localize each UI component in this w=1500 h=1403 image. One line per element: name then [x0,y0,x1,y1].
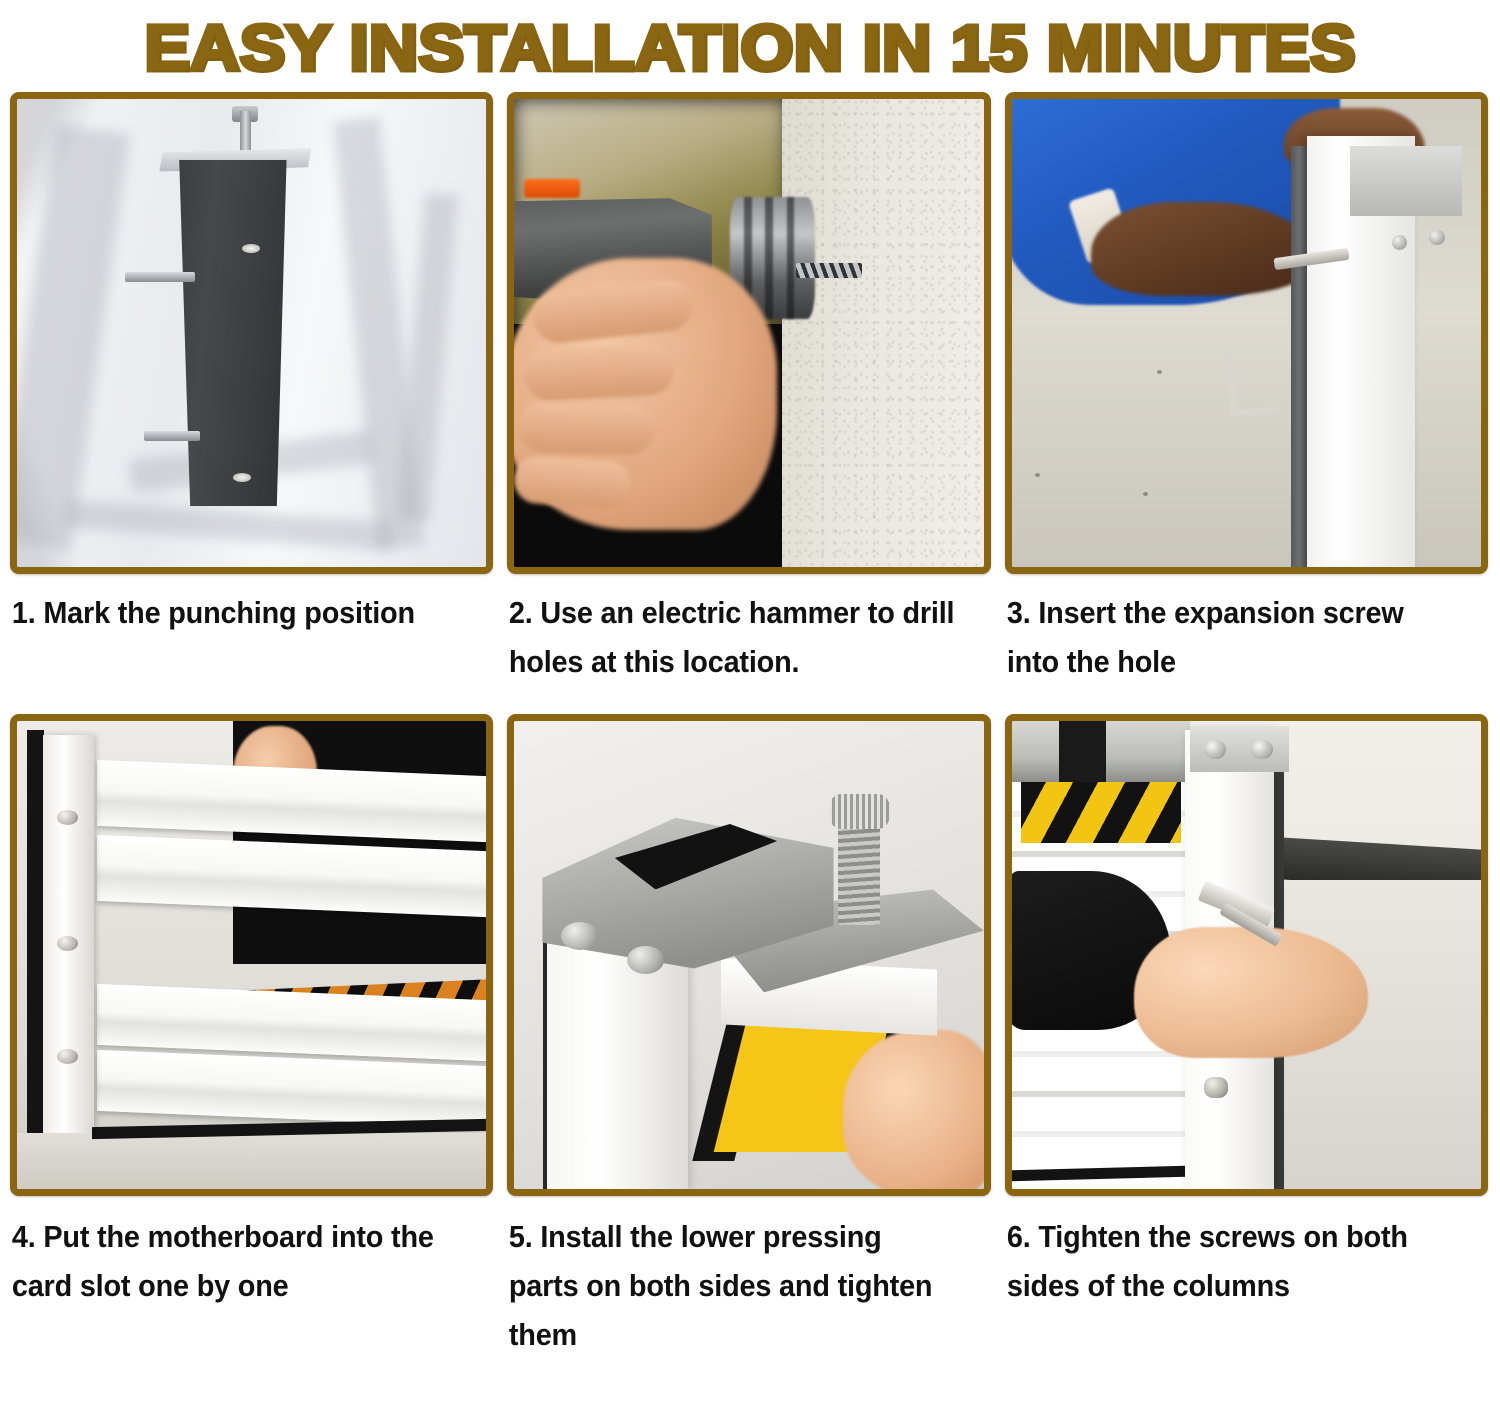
step-caption-block-5: 5. Install the lower pressing parts on b… [507,1196,990,1336]
step-caption-block-3: 3. Insert the expansion screw into the h… [1005,574,1488,714]
step-image-frame-4 [10,714,493,1196]
step-caption-block-1: 1. Mark the punching position [10,574,493,714]
step-image-frame-5 [507,714,990,1196]
step-caption-6: 6. Tighten the screws on both sides of t… [1005,1196,1454,1310]
step-caption-1: 1. Mark the punching position [10,574,459,637]
step-card-5: 5. Install the lower pressing parts on b… [507,714,990,1336]
step-caption-5: 5. Install the lower pressing parts on b… [507,1196,956,1359]
step-card-1: 1. Mark the punching position [10,92,493,714]
step-photo-3 [1012,99,1481,567]
step-photo-5 [514,721,983,1189]
step-image-frame-3 [1005,92,1488,574]
step-caption-block-4: 4. Put the motherboard into the card slo… [10,1196,493,1336]
step-caption-block-2: 2. Use an electric hammer to drill holes… [507,574,990,714]
step-caption-block-6: 6. Tighten the screws on both sides of t… [1005,1196,1488,1336]
step-card-2: 2. Use an electric hammer to drill holes… [507,92,990,714]
steps-row-bottom: 4. Put the motherboard into the card slo… [10,714,1488,1336]
step-caption-2: 2. Use an electric hammer to drill holes… [507,574,956,686]
step-card-6: 6. Tighten the screws on both sides of t… [1005,714,1488,1336]
step-photo-4 [17,721,486,1189]
step-card-4: 4. Put the motherboard into the card slo… [10,714,493,1336]
installation-steps-grid: 1. Mark the punching position [0,92,1500,1336]
step-photo-1 [17,99,486,567]
step-image-frame-2 [507,92,990,574]
step-card-3: 3. Insert the expansion screw into the h… [1005,92,1488,714]
header-banner: EASY INSTALLATION IN 15 MINUTES [0,0,1500,92]
step-image-frame-6 [1005,714,1488,1196]
page-title: EASY INSTALLATION IN 15 MINUTES [144,14,1355,82]
step-caption-4: 4. Put the motherboard into the card slo… [10,1196,459,1310]
step-photo-2 [514,99,983,567]
step-caption-3: 3. Insert the expansion screw into the h… [1005,574,1454,686]
steps-row-top: 1. Mark the punching position [10,92,1488,714]
step-image-frame-1 [10,92,493,574]
step-photo-6 [1012,721,1481,1189]
